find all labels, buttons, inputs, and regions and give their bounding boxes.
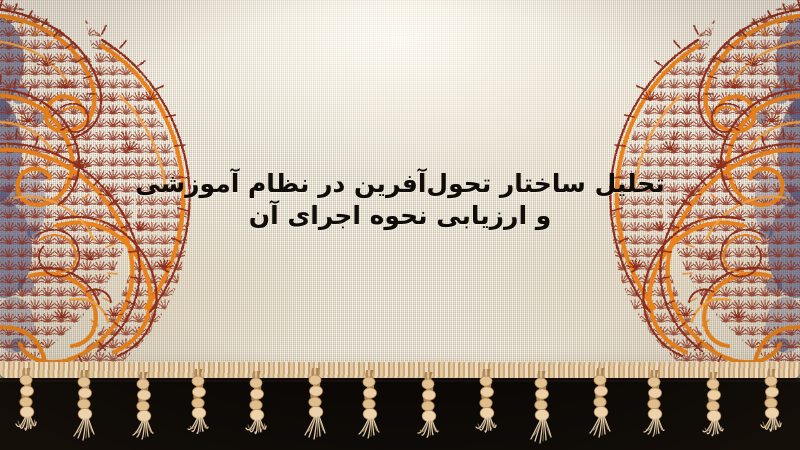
tassel: [642, 370, 668, 448]
tassel: [72, 370, 98, 448]
title-card-canvas: تحلیل ساختار تحول‌آفرین در نظام آموزشی و…: [0, 0, 800, 450]
tassel: [529, 371, 555, 449]
tassel: [14, 368, 40, 446]
title-block: تحلیل ساختار تحول‌آفرین در نظام آموزشی و…: [0, 168, 800, 232]
fringe-band: [0, 362, 800, 378]
tassel: [131, 372, 157, 450]
tassel: [474, 369, 500, 447]
tassel: [303, 368, 329, 446]
tassel: [416, 372, 442, 450]
tassel: [244, 371, 270, 449]
tassel: [186, 369, 212, 447]
tassel: [588, 368, 614, 446]
title-line-1: تحلیل ساختار تحول‌آفرین در نظام آموزشی: [0, 168, 800, 200]
tassel: [357, 370, 383, 448]
tassel-fringe: [0, 362, 800, 450]
title-line-2: و ارزیابی نحوه اجرای آن: [0, 200, 800, 232]
tassel: [701, 372, 727, 450]
tassel: [759, 369, 785, 447]
